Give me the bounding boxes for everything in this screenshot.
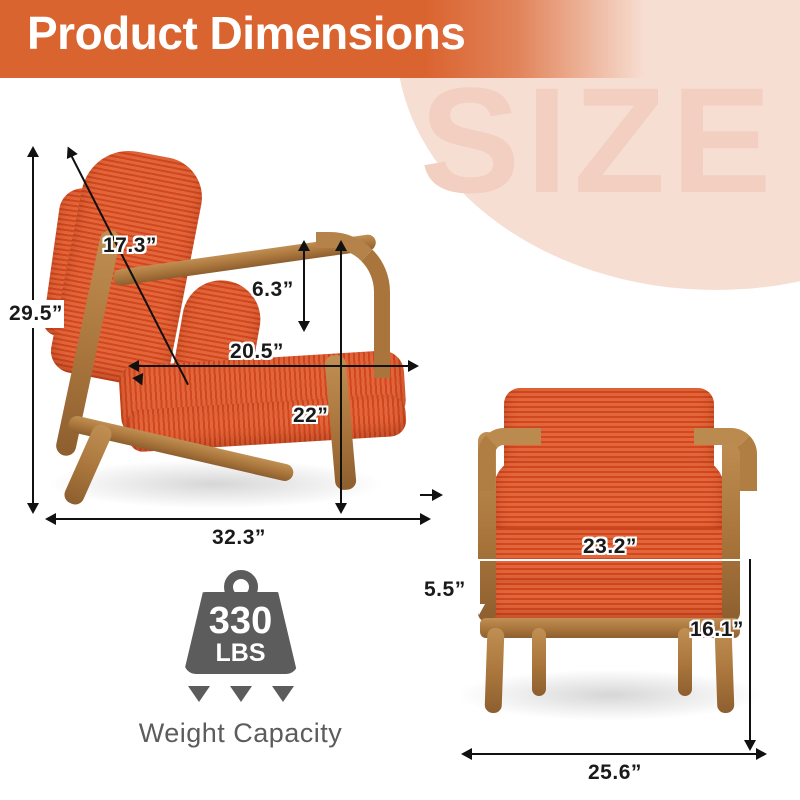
dimarrow-arm-height-bottom (335, 503, 347, 514)
wood-arm-right-curve (694, 428, 757, 491)
dim-seat-width-label: 23.2” (583, 535, 637, 559)
down-arrow-icon (230, 686, 252, 702)
weight-arrows-group (176, 686, 306, 702)
dimarrow-arm-to-seat-top (298, 240, 310, 251)
weight-value: 330 (176, 602, 306, 640)
dimarrow-overall-depth-left (45, 513, 56, 525)
dimarrow-overall-height-bottom (27, 503, 39, 514)
weight-capacity-block: 330 LBS Weight Capacity (108, 562, 373, 749)
wood-leg-rear-left (532, 628, 546, 696)
dimarrow-overall-height-top (27, 146, 39, 157)
dimarrow-seat-depth-left (128, 360, 139, 372)
dimline-overall-width (470, 753, 760, 755)
dimarrow-arm-height-top (335, 240, 347, 251)
dim-overall-width-label: 25.6” (588, 761, 642, 785)
down-arrow-icon (272, 686, 294, 702)
dim-backrest-height-label: 17.3” (103, 234, 157, 258)
dimarrow-cushion-thickness (473, 604, 485, 615)
wood-leg-front-left (485, 628, 505, 714)
weight-icon: 330 LBS (176, 562, 306, 682)
down-arrow-icon (188, 686, 210, 702)
wood-armrest-curve (316, 232, 390, 378)
dim-seat-height-label: 16.1” (690, 618, 744, 642)
dimarrow-seat-depth-right (408, 360, 419, 372)
dimline-overall-depth (54, 518, 424, 520)
dimline-seat-height-side (749, 559, 751, 745)
floor-shadow-front (460, 670, 760, 720)
dimline-seat-depth (137, 365, 412, 367)
dim-cushion-thickness-label: 5.5” (424, 578, 466, 602)
dimarrow-arm-to-seat-bottom (298, 321, 310, 332)
dimline-seat-width (478, 559, 750, 561)
dimarrow-pointer-front (432, 489, 443, 501)
dimarrow-overall-width-right (756, 748, 767, 760)
dimarrow-overall-depth-right (420, 513, 431, 525)
front-seat-base (490, 582, 730, 620)
dim-seat-depth-label: 20.5” (230, 340, 284, 364)
weight-unit: LBS (176, 641, 306, 666)
dimarrow-overall-width-left (461, 748, 472, 760)
dimarrow-seat-height-bottom (744, 740, 756, 751)
dim-overall-height-label: 29.5” (8, 300, 64, 328)
floor-shadow (50, 460, 380, 508)
dimline-overall-height (32, 152, 34, 508)
dim-arm-height-label: 22” (293, 404, 328, 428)
background-watermark: SIZE (420, 65, 777, 215)
wood-arm-left-curve (478, 428, 541, 491)
dim-arm-to-seat-label: 6.3” (252, 278, 294, 302)
dimline-arm-height (340, 246, 342, 508)
weight-capacity-label: Weight Capacity (108, 718, 373, 749)
dimline-arm-to-seat (303, 246, 305, 326)
page-title: Product Dimensions (27, 6, 465, 60)
dim-overall-depth-label: 32.3” (212, 526, 266, 550)
